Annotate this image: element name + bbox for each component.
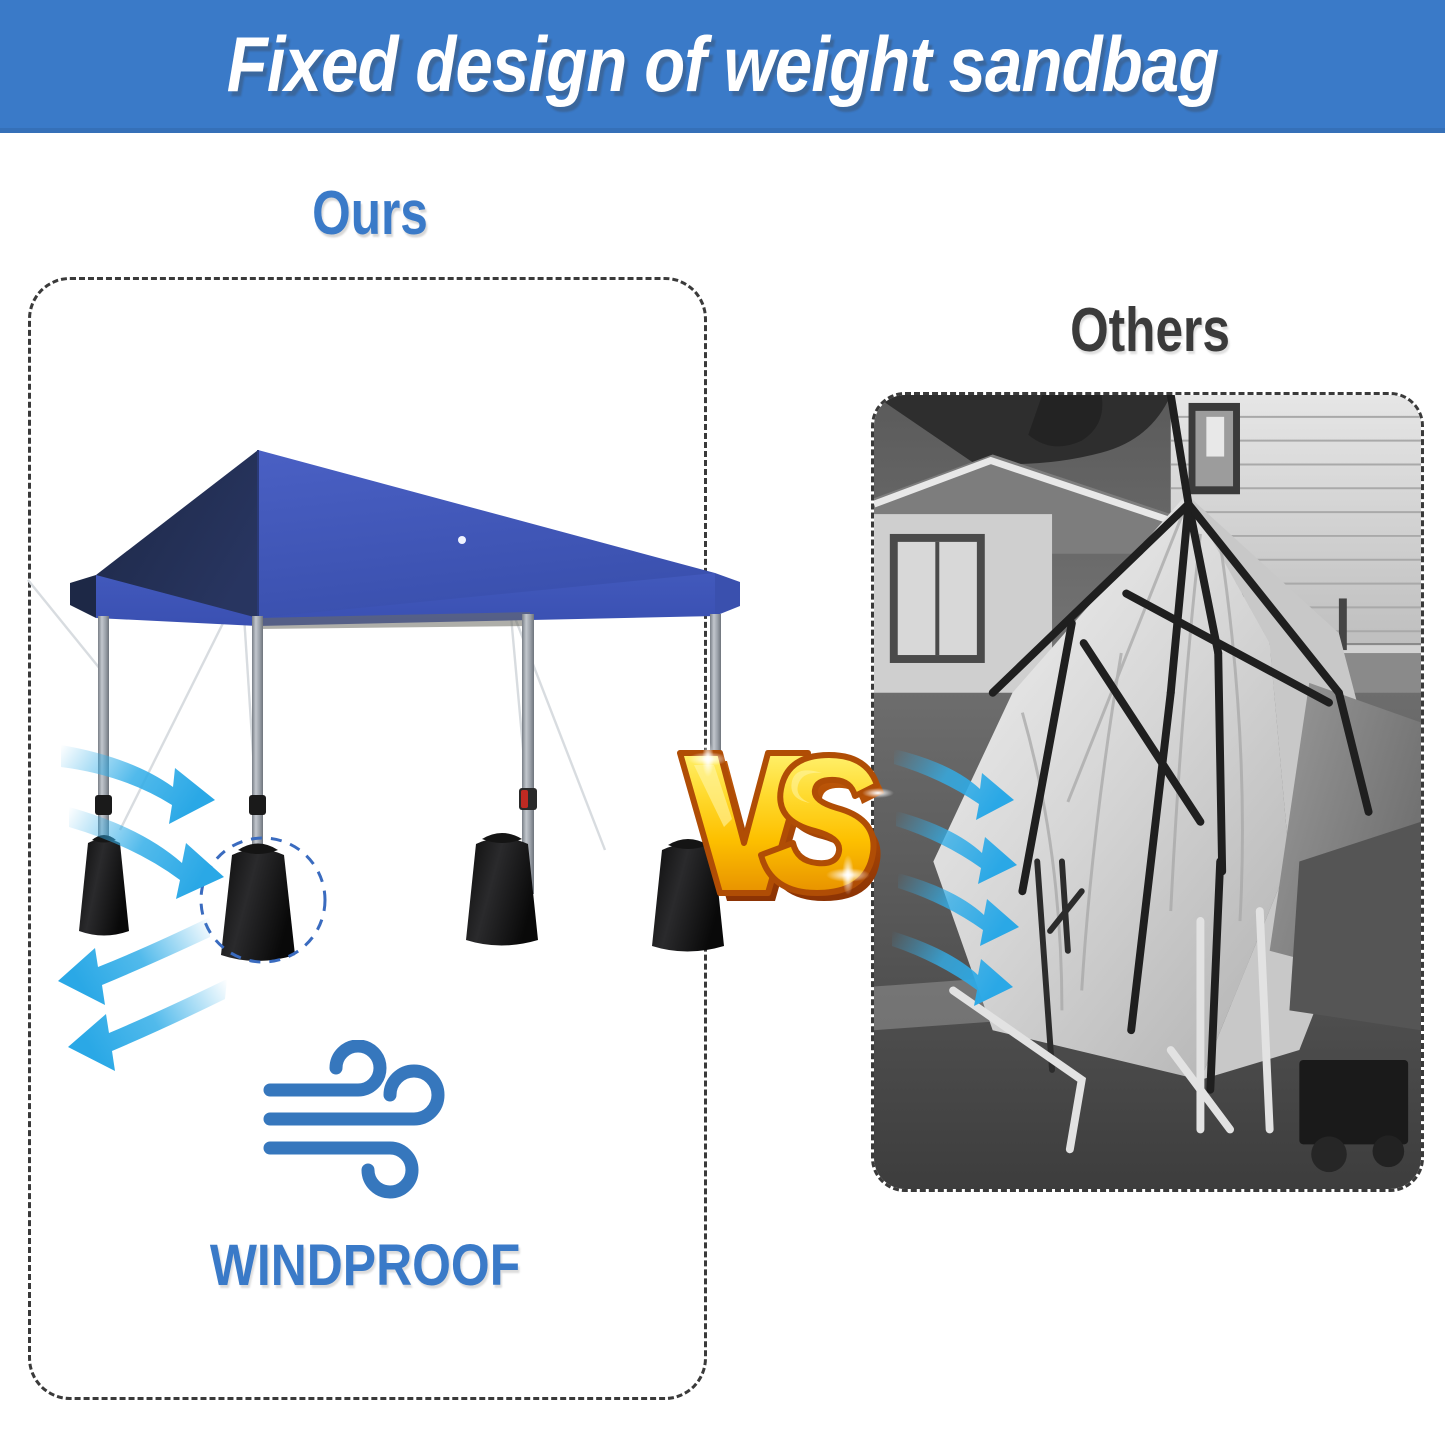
wind-arrow-right [69,807,224,899]
ours-label: Ours [278,178,462,249]
wind-arrows-ours [55,735,355,1065]
vs-badge [672,735,897,915]
windproof-caption: WINDPROOF [180,1232,550,1299]
wind-line-top [270,1046,380,1090]
wind-arrows-others [890,745,1070,1005]
canopy-right-tip [715,573,740,616]
sandbag [466,833,538,946]
wind-arrow-right [896,811,1017,884]
wind-arrow-right [894,749,1014,820]
wind-arrow-left [58,917,210,1005]
wind-arrow-right [892,931,1013,1006]
header-banner: Fixed design of weight sandbag [0,0,1445,133]
page-title: Fixed design of weight sandbag [227,25,1219,103]
wind-line-bottom [270,1148,412,1192]
infographic-page: Fixed design of weight sandbag Ours [0,0,1445,1445]
wind-arrow-right [898,873,1019,946]
canopy-vent-dot [458,536,466,544]
canopy-left-tip [70,575,96,618]
wind-icon [262,1040,472,1200]
others-label: Others [1054,295,1246,366]
